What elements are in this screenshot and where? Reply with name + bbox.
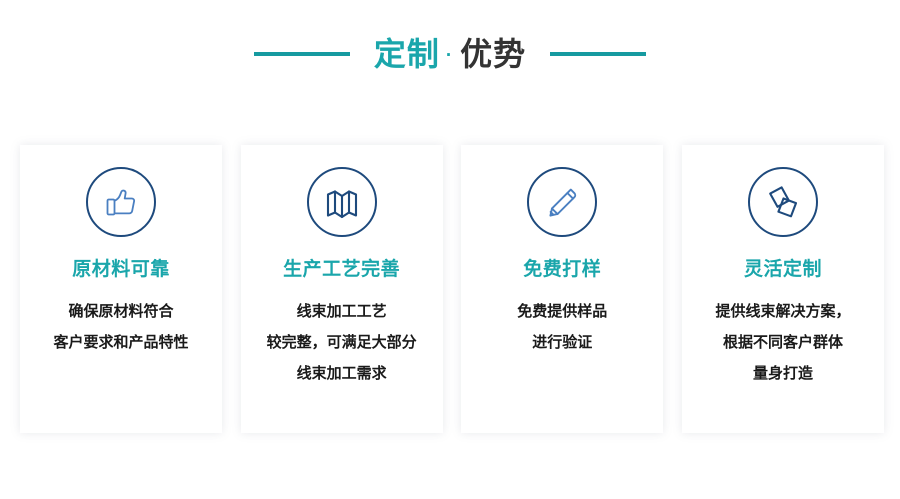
- advantage-card-description-line: 线束加工工艺: [247, 296, 437, 327]
- advantage-card-description-line: 较完整，可满足大部分: [247, 327, 437, 358]
- advantage-card-description-line: 免费提供样品: [467, 296, 657, 327]
- advantage-card-list: 原材料可靠 确保原材料符合 客户要求和产品特性 生产工艺完善 线束加工工艺 较完…: [20, 145, 884, 433]
- page-title-accent: 定制: [374, 38, 440, 70]
- advantage-card-description-line: 客户要求和产品特性: [26, 327, 216, 358]
- page-title-separator: ·: [440, 46, 460, 65]
- advantage-card-description-line: 进行验证: [467, 327, 657, 358]
- advantage-card-description: 线束加工工艺 较完整，可满足大部分 线束加工需求: [247, 296, 437, 389]
- advantage-card-title: 原材料可靠: [72, 259, 170, 282]
- advantage-card-title: 灵活定制: [744, 259, 822, 282]
- heading-rule-right: [550, 52, 646, 56]
- advantage-card-description-line: 确保原材料符合: [26, 296, 216, 327]
- advantage-card[interactable]: 免费打样 免费提供样品 进行验证: [461, 145, 663, 433]
- advantage-card-title: 免费打样: [523, 259, 601, 282]
- advantage-card-description: 确保原材料符合 客户要求和产品特性: [26, 296, 216, 358]
- advantage-card-description-line: 线束加工需求: [247, 358, 437, 389]
- advantage-card[interactable]: 生产工艺完善 线束加工工艺 较完整，可满足大部分 线束加工需求: [241, 145, 443, 433]
- folded-map-icon: [307, 167, 377, 237]
- advantage-card-description: 提供线束解决方案， 根据不同客户群体 量身打造: [688, 296, 878, 389]
- page-title: 定制 · 优势: [374, 38, 526, 70]
- stacked-cards-icon: [748, 167, 818, 237]
- thumbs-up-icon: [86, 167, 156, 237]
- page-title-main: 优势: [460, 38, 526, 70]
- advantage-card-description-line: 提供线束解决方案，: [688, 296, 878, 327]
- advantage-card-description-line: 根据不同客户群体: [688, 327, 878, 358]
- advantage-card-title: 生产工艺完善: [283, 259, 400, 282]
- pencil-icon: [527, 167, 597, 237]
- section-heading: 定制 · 优势: [0, 26, 900, 82]
- advantage-card-description-line: 量身打造: [688, 358, 878, 389]
- advantage-card[interactable]: 原材料可靠 确保原材料符合 客户要求和产品特性: [20, 145, 222, 433]
- advantage-card-description: 免费提供样品 进行验证: [467, 296, 657, 358]
- heading-rule-left: [254, 52, 350, 56]
- advantage-card[interactable]: 灵活定制 提供线束解决方案， 根据不同客户群体 量身打造: [682, 145, 884, 433]
